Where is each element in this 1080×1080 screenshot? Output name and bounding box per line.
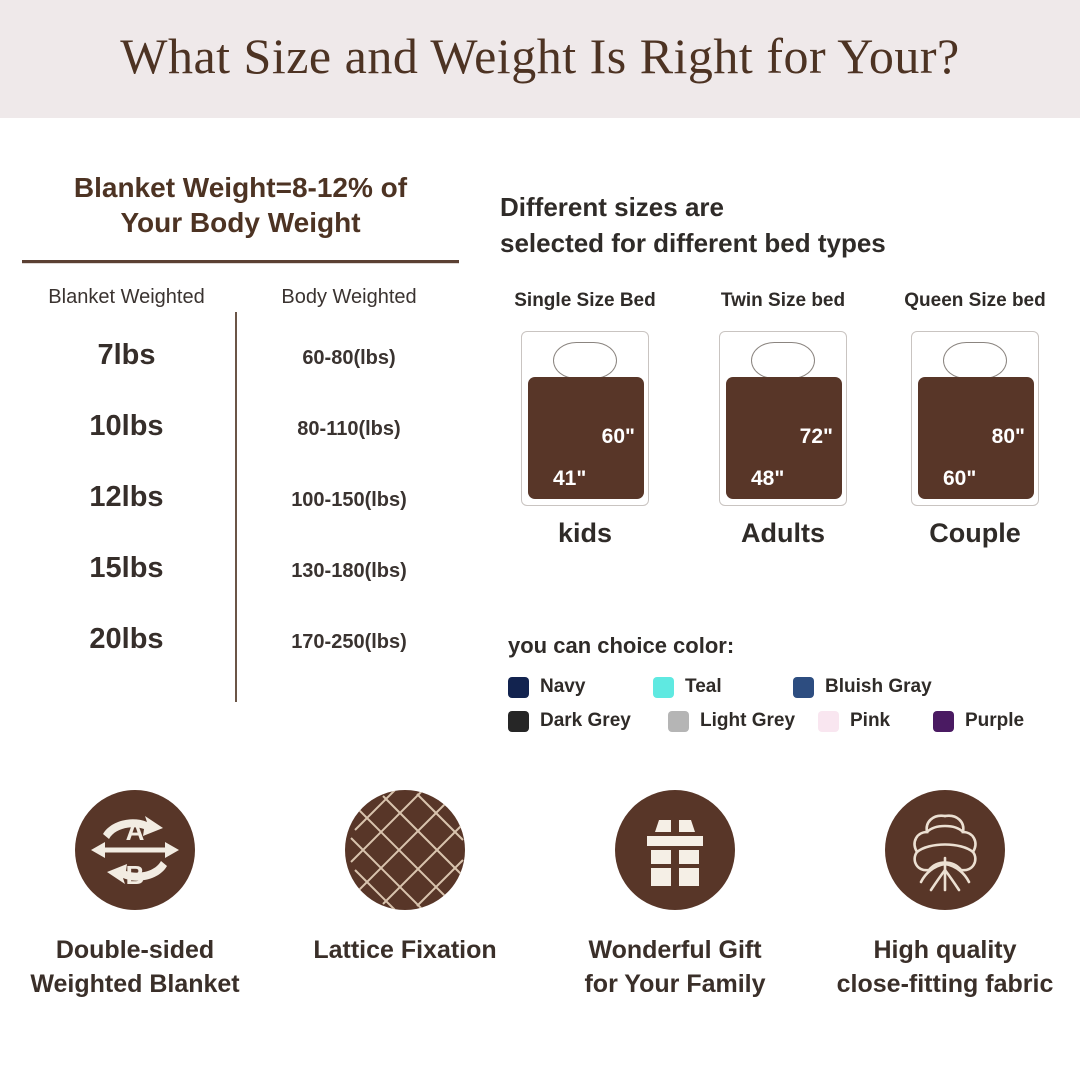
- color-label-purple: Purple: [965, 710, 1024, 732]
- feature-caption-double-sided: Double-sided Weighted Blanket: [0, 934, 270, 1002]
- color-label-navy: Navy: [540, 676, 585, 698]
- color-option-purple[interactable]: Purple: [933, 710, 1024, 732]
- svg-text:A: A: [126, 816, 145, 846]
- color-option-light-grey[interactable]: Light Grey: [668, 710, 818, 732]
- pillow-icon: [943, 342, 1007, 379]
- feature-caption-line1: High quality: [810, 934, 1080, 968]
- bed-label-twin: Twin Size bed: [698, 290, 868, 312]
- gift-box-icon: [615, 790, 735, 910]
- bed-heading-line1: Different sizes are: [500, 190, 1070, 226]
- feature-caption-line1: Lattice Fixation: [270, 934, 540, 968]
- swatch-bluish-gray[interactable]: [793, 677, 814, 698]
- bed-diagrams: Single Size Bed 60" 41" kids Twin Size b…: [500, 290, 1070, 535]
- blanket-weight-value: 7lbs: [18, 339, 235, 372]
- page-title: What Size and Weight Is Right for Your?: [0, 27, 1080, 85]
- bed-card-queen: Queen Size bed 80" 60" Couple: [880, 290, 1070, 549]
- body-weight-value: 130-180(lbs): [235, 560, 463, 583]
- color-option-navy[interactable]: Navy: [508, 676, 653, 698]
- body-weight-value: 100-150(lbs): [235, 489, 463, 512]
- pillow-icon: [751, 342, 815, 379]
- table-row: 20lbs 170-250(lbs): [18, 623, 463, 694]
- blanket-weight-value: 12lbs: [18, 481, 235, 514]
- bed-length-queen: 80": [992, 425, 1025, 449]
- body-weight-value: 170-250(lbs): [235, 631, 463, 654]
- pillow-icon: [553, 342, 617, 379]
- feature-caption-line2: close-fitting fabric: [810, 968, 1080, 1002]
- feature-cotton: High quality close-fitting fabric: [810, 790, 1080, 1002]
- column-header-blanket: Blanket Weighted: [18, 286, 235, 339]
- table-header-row: Blanket Weighted Body Weighted: [18, 286, 463, 339]
- feature-caption-gift: Wonderful Gift for Your Family: [540, 934, 810, 1002]
- column-divider: [235, 312, 237, 702]
- bed-sizes-heading: Different sizes are selected for differe…: [500, 190, 1070, 262]
- blanket-shape: 60" 41": [528, 377, 644, 499]
- color-option-teal[interactable]: Teal: [653, 676, 793, 698]
- bed-card-twin: Twin Size bed 72" 48" Adults: [698, 290, 868, 549]
- blanket-shape: 72" 48": [726, 377, 842, 499]
- swatch-light-grey[interactable]: [668, 711, 689, 732]
- bed-illustration-twin: 72" 48": [719, 331, 847, 506]
- table-row: 7lbs 60-80(lbs): [18, 339, 463, 410]
- feature-caption-lattice: Lattice Fixation: [270, 934, 540, 968]
- lattice-diamond-icon: [345, 790, 465, 910]
- blanket-weight-value: 15lbs: [18, 552, 235, 585]
- table-row: 12lbs 100-150(lbs): [18, 481, 463, 552]
- weight-heading-line2: Your Body Weight: [24, 205, 457, 240]
- bed-label-queen: Queen Size bed: [880, 290, 1070, 312]
- weight-table-heading: Blanket Weight=8-12% of Your Body Weight: [18, 170, 463, 240]
- bed-heading-line2: selected for different bed types: [500, 226, 1070, 262]
- bed-length-twin: 72": [800, 425, 833, 449]
- color-label-dark-grey: Dark Grey: [540, 710, 631, 732]
- color-label-pink: Pink: [850, 710, 890, 732]
- feature-caption-line1: Double-sided: [0, 934, 270, 968]
- feature-double-sided: A B Double-sided Weighted Blanket: [0, 790, 270, 1002]
- weight-table: Blanket Weighted Body Weighted 7lbs 60-8…: [18, 286, 463, 694]
- blanket-shape: 80" 60": [918, 377, 1034, 499]
- bed-length-single: 60": [602, 425, 635, 449]
- cotton-boll-icon: [885, 790, 1005, 910]
- color-legend-title: you can choice color:: [508, 633, 1078, 659]
- feature-caption-line1: Wonderful Gift: [540, 934, 810, 968]
- color-option-bluish-gray[interactable]: Bluish Gray: [793, 676, 932, 698]
- bed-illustration-queen: 80" 60": [911, 331, 1039, 506]
- feature-gift: Wonderful Gift for Your Family: [540, 790, 810, 1002]
- color-label-teal: Teal: [685, 676, 722, 698]
- bed-width-single: 41": [553, 467, 586, 491]
- bed-user-single: kids: [500, 518, 670, 549]
- weight-table-panel: Blanket Weight=8-12% of Your Body Weight…: [18, 170, 463, 694]
- heading-divider: [22, 260, 459, 264]
- blanket-weight-value: 10lbs: [18, 410, 235, 443]
- color-legend-row-2: Dark Grey Light Grey Pink Purple: [508, 704, 1078, 738]
- double-sided-arrows-icon: A B: [75, 790, 195, 910]
- feature-list: A B Double-sided Weighted Blanket: [0, 790, 1080, 1002]
- bed-label-single: Single Size Bed: [500, 290, 670, 312]
- bed-sizes-panel: Different sizes are selected for differe…: [500, 190, 1070, 535]
- color-legend-row-1: Navy Teal Bluish Gray: [508, 670, 1078, 704]
- feature-lattice: Lattice Fixation: [270, 790, 540, 1002]
- color-legend: you can choice color: Navy Teal Bluish G…: [508, 633, 1078, 738]
- feature-caption-cotton: High quality close-fitting fabric: [810, 934, 1080, 1002]
- bed-width-twin: 48": [751, 467, 784, 491]
- blanket-weight-value: 20lbs: [18, 623, 235, 656]
- bed-user-twin: Adults: [698, 518, 868, 549]
- color-label-bluish-gray: Bluish Gray: [825, 676, 932, 698]
- swatch-dark-grey[interactable]: [508, 711, 529, 732]
- feature-caption-line2: for Your Family: [540, 968, 810, 1002]
- body-weight-value: 60-80(lbs): [235, 347, 463, 370]
- bed-illustration-single: 60" 41": [521, 331, 649, 506]
- swatch-pink[interactable]: [818, 711, 839, 732]
- table-row: 15lbs 130-180(lbs): [18, 552, 463, 623]
- swatch-purple[interactable]: [933, 711, 954, 732]
- bed-user-queen: Couple: [880, 518, 1070, 549]
- table-row: 10lbs 80-110(lbs): [18, 410, 463, 481]
- bed-width-queen: 60": [943, 467, 976, 491]
- swatch-teal[interactable]: [653, 677, 674, 698]
- color-option-dark-grey[interactable]: Dark Grey: [508, 710, 668, 732]
- svg-text:B: B: [126, 860, 145, 890]
- feature-caption-line2: Weighted Blanket: [0, 968, 270, 1002]
- column-header-body: Body Weighted: [235, 286, 463, 339]
- swatch-navy[interactable]: [508, 677, 529, 698]
- bed-card-single: Single Size Bed 60" 41" kids: [500, 290, 670, 549]
- color-option-pink[interactable]: Pink: [818, 710, 933, 732]
- weight-heading-line1: Blanket Weight=8-12% of: [24, 170, 457, 205]
- body-weight-value: 80-110(lbs): [235, 418, 463, 441]
- color-label-light-grey: Light Grey: [700, 710, 795, 732]
